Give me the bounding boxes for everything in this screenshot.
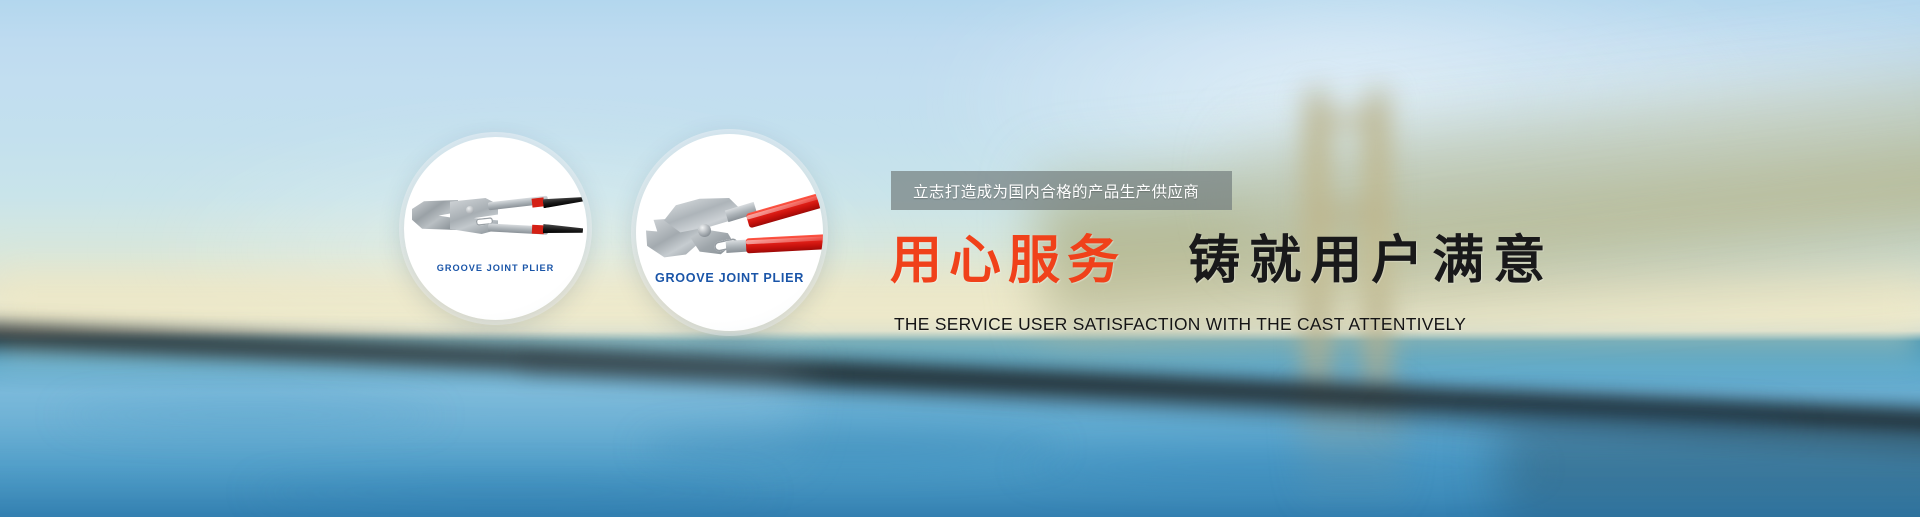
- pylon-crossbeam: [1306, 114, 1390, 127]
- plier-grip-upper: [746, 189, 823, 229]
- product-circle-groove-joint-plier-2[interactable]: GROOVE JOINT PLIER: [636, 134, 823, 331]
- headline-part-black: 铸就用户满意: [1188, 230, 1554, 291]
- plier-grip-lower: [543, 224, 583, 235]
- water-ripple: [1020, 452, 1540, 482]
- plier-grip-upper: [543, 195, 584, 208]
- pylon-crossbeam: [1306, 206, 1390, 219]
- product-label: GROOVE JOINT PLIER: [404, 263, 587, 273]
- tagline-text: 立志打造成为国内合格的产品生产供应商: [891, 180, 1199, 202]
- headline-part-red: 用心服务: [890, 230, 1126, 291]
- plier-red-band: [532, 225, 544, 235]
- grip-gloss: [746, 191, 823, 220]
- grip-gloss: [746, 236, 823, 245]
- plier-grip-lower: [746, 234, 823, 254]
- tagline-box: 立志打造成为国内合格的产品生产供应商: [891, 171, 1232, 210]
- product-circle-groove-joint-plier-1[interactable]: GROOVE JOINT PLIER: [404, 137, 587, 320]
- promo-banner: GROOVE JOINT PLIER GROOVE JOINT PLIER 立志…: [0, 0, 1920, 517]
- plier-pivot: [466, 206, 474, 214]
- plier-pivot: [698, 224, 711, 237]
- water-ripple: [640, 430, 1060, 464]
- water-ripple: [60, 400, 440, 430]
- plier-red-band: [532, 197, 545, 207]
- headline: 用心服务 铸就用户满意: [890, 235, 1554, 287]
- groove-joint-plier-icon: [640, 192, 823, 270]
- subline-text: THE SERVICE USER SATISFACTION WITH THE C…: [894, 314, 1466, 335]
- groove-joint-plier-icon: [412, 192, 580, 242]
- water-dark-mass: [1500, 430, 1920, 517]
- product-label: GROOVE JOINT PLIER: [636, 271, 823, 285]
- water-ripple: [250, 478, 770, 506]
